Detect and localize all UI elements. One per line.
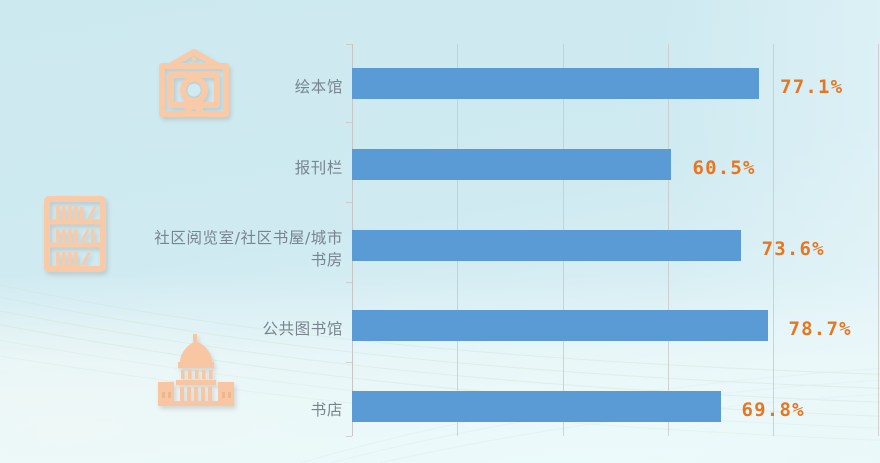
bar-series-3[interactable] <box>352 310 768 341</box>
value-label-0: 77.1% <box>780 76 843 98</box>
axis-tick <box>346 202 352 203</box>
value-label-3: 78.7% <box>789 318 852 340</box>
value-label-1: 60.5% <box>692 157 755 179</box>
bar-series-2[interactable] <box>352 230 741 261</box>
axis-tick <box>346 436 352 437</box>
library-building-icon <box>154 332 238 406</box>
bar-series-0[interactable] <box>352 68 759 99</box>
category-label-4: 书店 <box>0 399 343 421</box>
category-label-0: 绘本馆 <box>0 76 343 98</box>
gridline-100 <box>878 44 879 436</box>
bar-series-4[interactable] <box>352 391 721 422</box>
value-label-4: 69.8% <box>742 399 805 421</box>
axis-tick <box>346 44 352 45</box>
chart-slide: 绘本馆 报刊栏 社区阅览室/社区书屋/城市 书房 公共图书馆 书店 77.1% … <box>0 0 880 463</box>
axis-tick <box>346 282 352 283</box>
category-label-3: 公共图书馆 <box>0 318 343 340</box>
bar-series-1[interactable] <box>352 149 671 180</box>
category-label-2: 社区阅览室/社区书屋/城市 书房 <box>0 227 343 271</box>
axis-tick <box>346 362 352 363</box>
axis-tick <box>346 122 352 123</box>
value-label-2: 73.6% <box>762 238 825 260</box>
category-label-1: 报刊栏 <box>0 157 343 179</box>
